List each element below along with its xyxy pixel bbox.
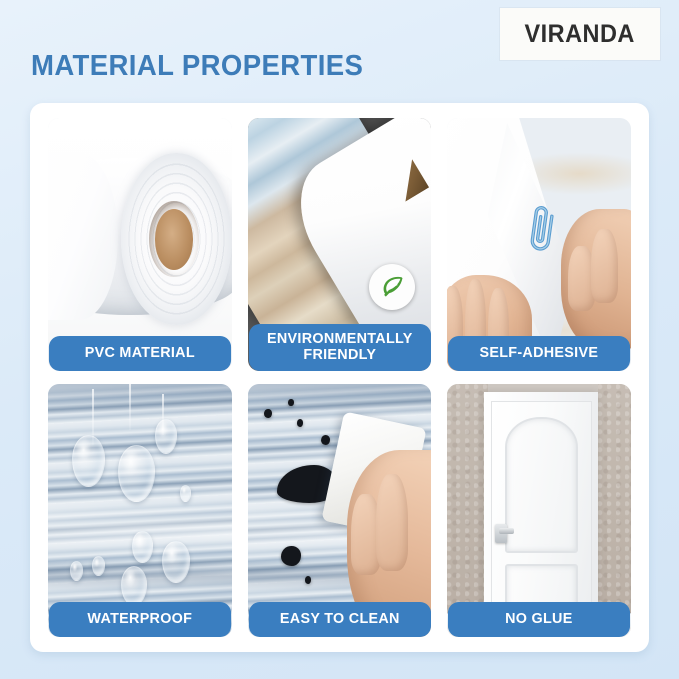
feature-label-pvc-material: PVC MATERIAL — [49, 336, 231, 371]
feature-label-easy-to-clean: EASY TO CLEAN — [249, 602, 431, 637]
feature-card-self-adhesive: SELF-ADHESIVE — [447, 118, 631, 371]
waterproof-image — [48, 384, 232, 637]
features-grid: PVC MATERIAL ENVIRONMENTALLY FR — [48, 118, 631, 637]
feature-label-environmentally-friendly: ENVIRONMENTALLY FRIENDLY — [249, 324, 431, 371]
no-glue-image — [447, 384, 631, 637]
feature-card-pvc-material: PVC MATERIAL — [48, 118, 232, 371]
leaf-icon — [369, 264, 415, 310]
easy-to-clean-image — [248, 384, 432, 637]
feature-card-easy-to-clean: EASY TO CLEAN — [248, 384, 432, 637]
feature-card-waterproof: WATERPROOF — [48, 384, 232, 637]
feature-card-no-glue: NO GLUE — [447, 384, 631, 637]
feature-label-waterproof: WATERPROOF — [49, 602, 231, 637]
brand-name: VIRANDA — [525, 20, 635, 49]
self-adhesive-image — [447, 118, 631, 371]
brand-logo: VIRANDA — [500, 8, 660, 60]
page-title: MATERIAL PROPERTIES — [31, 50, 363, 83]
feature-label-self-adhesive: SELF-ADHESIVE — [448, 336, 630, 371]
paperclip-icon — [517, 199, 566, 260]
feature-label-no-glue: NO GLUE — [448, 602, 630, 637]
feature-card-environmentally-friendly: ENVIRONMENTALLY FRIENDLY — [248, 118, 432, 371]
infographic-page: VIRANDA MATERIAL PROPERTIES PVC MATERIAL — [0, 0, 679, 679]
features-panel: PVC MATERIAL ENVIRONMENTALLY FR — [30, 103, 649, 652]
pvc-material-image — [48, 118, 232, 371]
